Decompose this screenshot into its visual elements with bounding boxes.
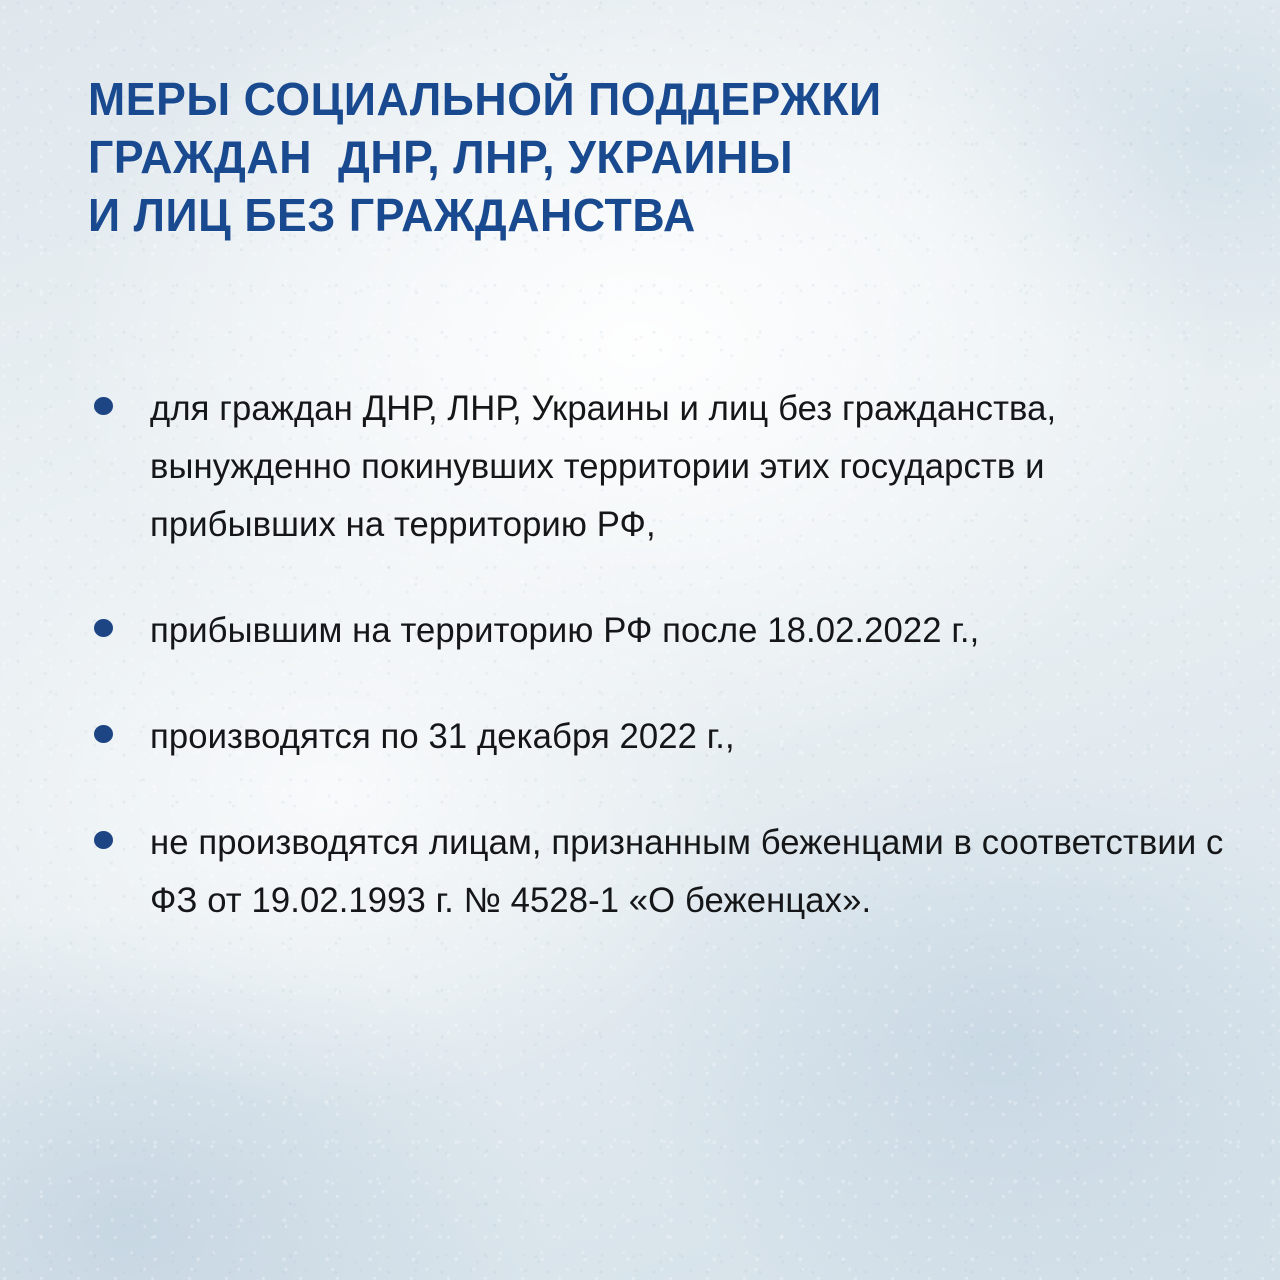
bullet-dot-icon xyxy=(94,619,113,637)
title-line-1: МЕРЫ СОЦИАЛЬНОЙ ПОДДЕРЖКИ xyxy=(88,70,1155,128)
title-line-3: И ЛИЦ БЕЗ ГРАЖДАНСТВА xyxy=(88,186,1155,244)
bullet-text-1: для граждан ДНР, ЛНР, Украины и лиц без … xyxy=(150,380,1227,554)
list-item: прибывшим на территорию РФ после 18.02.2… xyxy=(88,602,1238,660)
title-line-2: ГРАЖДАН ДНР, ЛНР, УКРАИНЫ xyxy=(88,128,1155,186)
list-item: для граждан ДНР, ЛНР, Украины и лиц без … xyxy=(88,380,1238,554)
bullet-dot-icon xyxy=(94,831,113,849)
bullet-text-2: прибывшим на территорию РФ после 18.02.2… xyxy=(150,602,1227,660)
bullet-dot-icon xyxy=(94,397,113,415)
bullet-text-3: производятся по 31 декабря 2022 г., xyxy=(150,708,1227,766)
page-title: МЕРЫ СОЦИАЛЬНОЙ ПОДДЕРЖКИ ГРАЖДАН ДНР, Л… xyxy=(88,70,1188,244)
bullet-text-4: не производятся лицам, признанным беженц… xyxy=(150,814,1227,930)
bullet-list: для граждан ДНР, ЛНР, Украины и лиц без … xyxy=(88,380,1238,930)
bullet-dot-icon xyxy=(94,725,113,743)
list-item: производятся по 31 декабря 2022 г., xyxy=(88,708,1238,766)
list-item: не производятся лицам, признанным беженц… xyxy=(88,814,1238,930)
poster-canvas: МЕРЫ СОЦИАЛЬНОЙ ПОДДЕРЖКИ ГРАЖДАН ДНР, Л… xyxy=(0,0,1280,1280)
